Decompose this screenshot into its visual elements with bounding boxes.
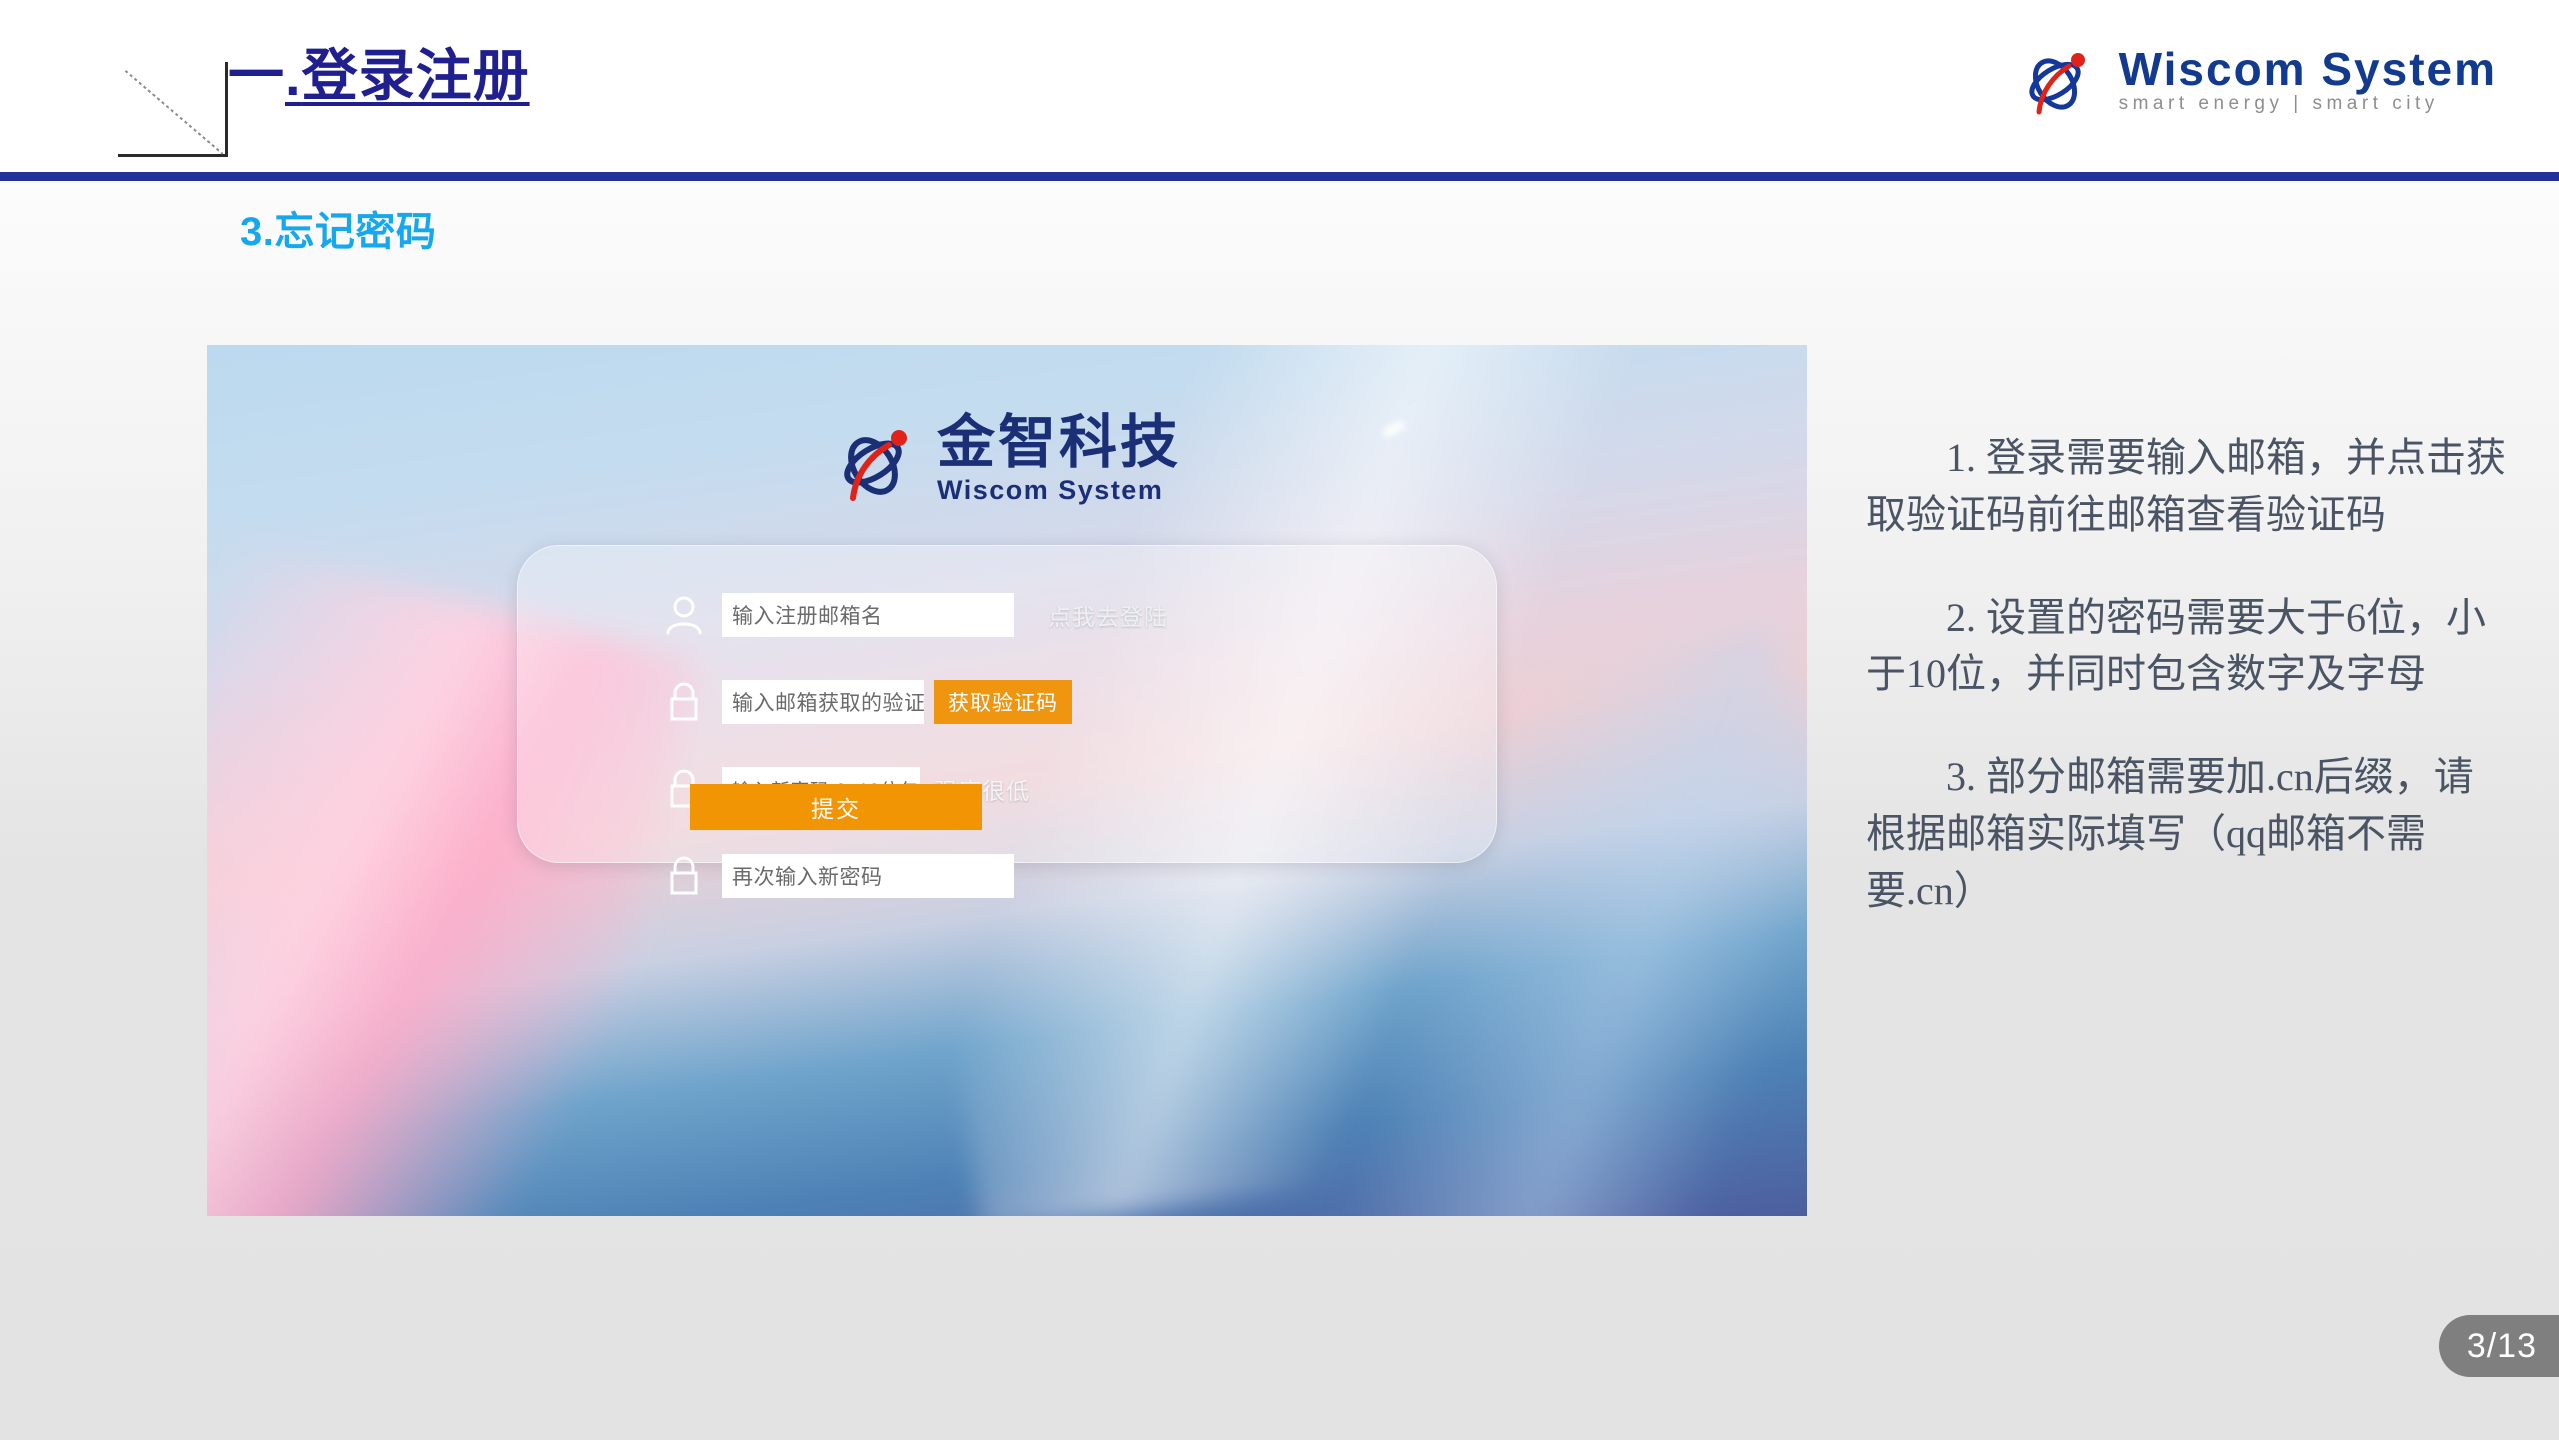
decorative-corner-mark: [118, 62, 228, 157]
product-name-cn: 金智科技: [937, 413, 1181, 474]
instruction-notes: 1. 登录需要输入邮箱，并点击获取验证码前往邮箱查看验证码 2. 设置的密码需要…: [1866, 430, 2506, 920]
verification-code-input[interactable]: 输入邮箱获取的验证码: [722, 680, 924, 724]
embedded-screenshot: 金智科技 Wiscom System 输入注册邮箱名 点我去登陆 输入邮箱获取的…: [207, 345, 1807, 1216]
go-to-login-link[interactable]: 点我去登陆: [1048, 598, 1168, 632]
confirm-password-input[interactable]: 再次输入新密码: [722, 854, 1014, 898]
product-name-en: Wiscom System: [937, 474, 1181, 506]
page-title-number: 一: [228, 44, 285, 107]
header-divider: [0, 172, 2559, 181]
note-item-3: 3. 部分邮箱需要加.cn后缀，请根据邮箱实际填写（qq邮箱不需要.cn）: [1866, 749, 2506, 919]
corner-horizontal-line: [118, 154, 228, 157]
lock-icon: [662, 854, 706, 898]
product-logo-text: 金智科技 Wiscom System: [937, 413, 1181, 506]
jinzhi-orbit-icon: [833, 416, 921, 504]
brand-name: Wiscom System: [2119, 46, 2497, 92]
brand-text: Wiscom System smart energy | smart city: [2119, 46, 2497, 113]
field-row-email: 输入注册邮箱名 点我去登陆: [662, 593, 1168, 637]
section-title: 3.忘记密码: [240, 212, 436, 252]
get-verification-code-button[interactable]: 获取验证码: [934, 680, 1072, 724]
product-logo: 金智科技 Wiscom System: [833, 413, 1181, 506]
field-row-code: 输入邮箱获取的验证码 获取验证码: [662, 680, 1072, 724]
brand-logo: Wiscom System smart energy | smart city: [2019, 40, 2497, 118]
brand-tagline: smart energy | smart city: [2119, 94, 2497, 113]
page-indicator-badge: 3/13: [2439, 1315, 2559, 1377]
field-row-confirm-password: 再次输入新密码: [662, 854, 1014, 898]
person-icon: [662, 593, 706, 637]
corner-diagonal-line: [125, 70, 224, 155]
page-title-dot: .: [285, 44, 302, 107]
lock-icon: [662, 680, 706, 724]
note-item-1: 1. 登录需要输入邮箱，并点击获取验证码前往邮箱查看验证码: [1866, 430, 2506, 544]
submit-button[interactable]: 提交: [690, 784, 982, 830]
page-title: 一.登录注册: [228, 48, 530, 104]
email-input[interactable]: 输入注册邮箱名: [722, 593, 1014, 637]
slide-header: 一.登录注册 Wiscom System smart energy | smar…: [0, 0, 2559, 178]
note-item-2: 2. 设置的密码需要大于6位，小于10位，并同时包含数字及字母: [1866, 590, 2506, 704]
page-title-text: 登录注册: [302, 44, 530, 107]
wiscom-orbit-icon: [2019, 40, 2097, 118]
